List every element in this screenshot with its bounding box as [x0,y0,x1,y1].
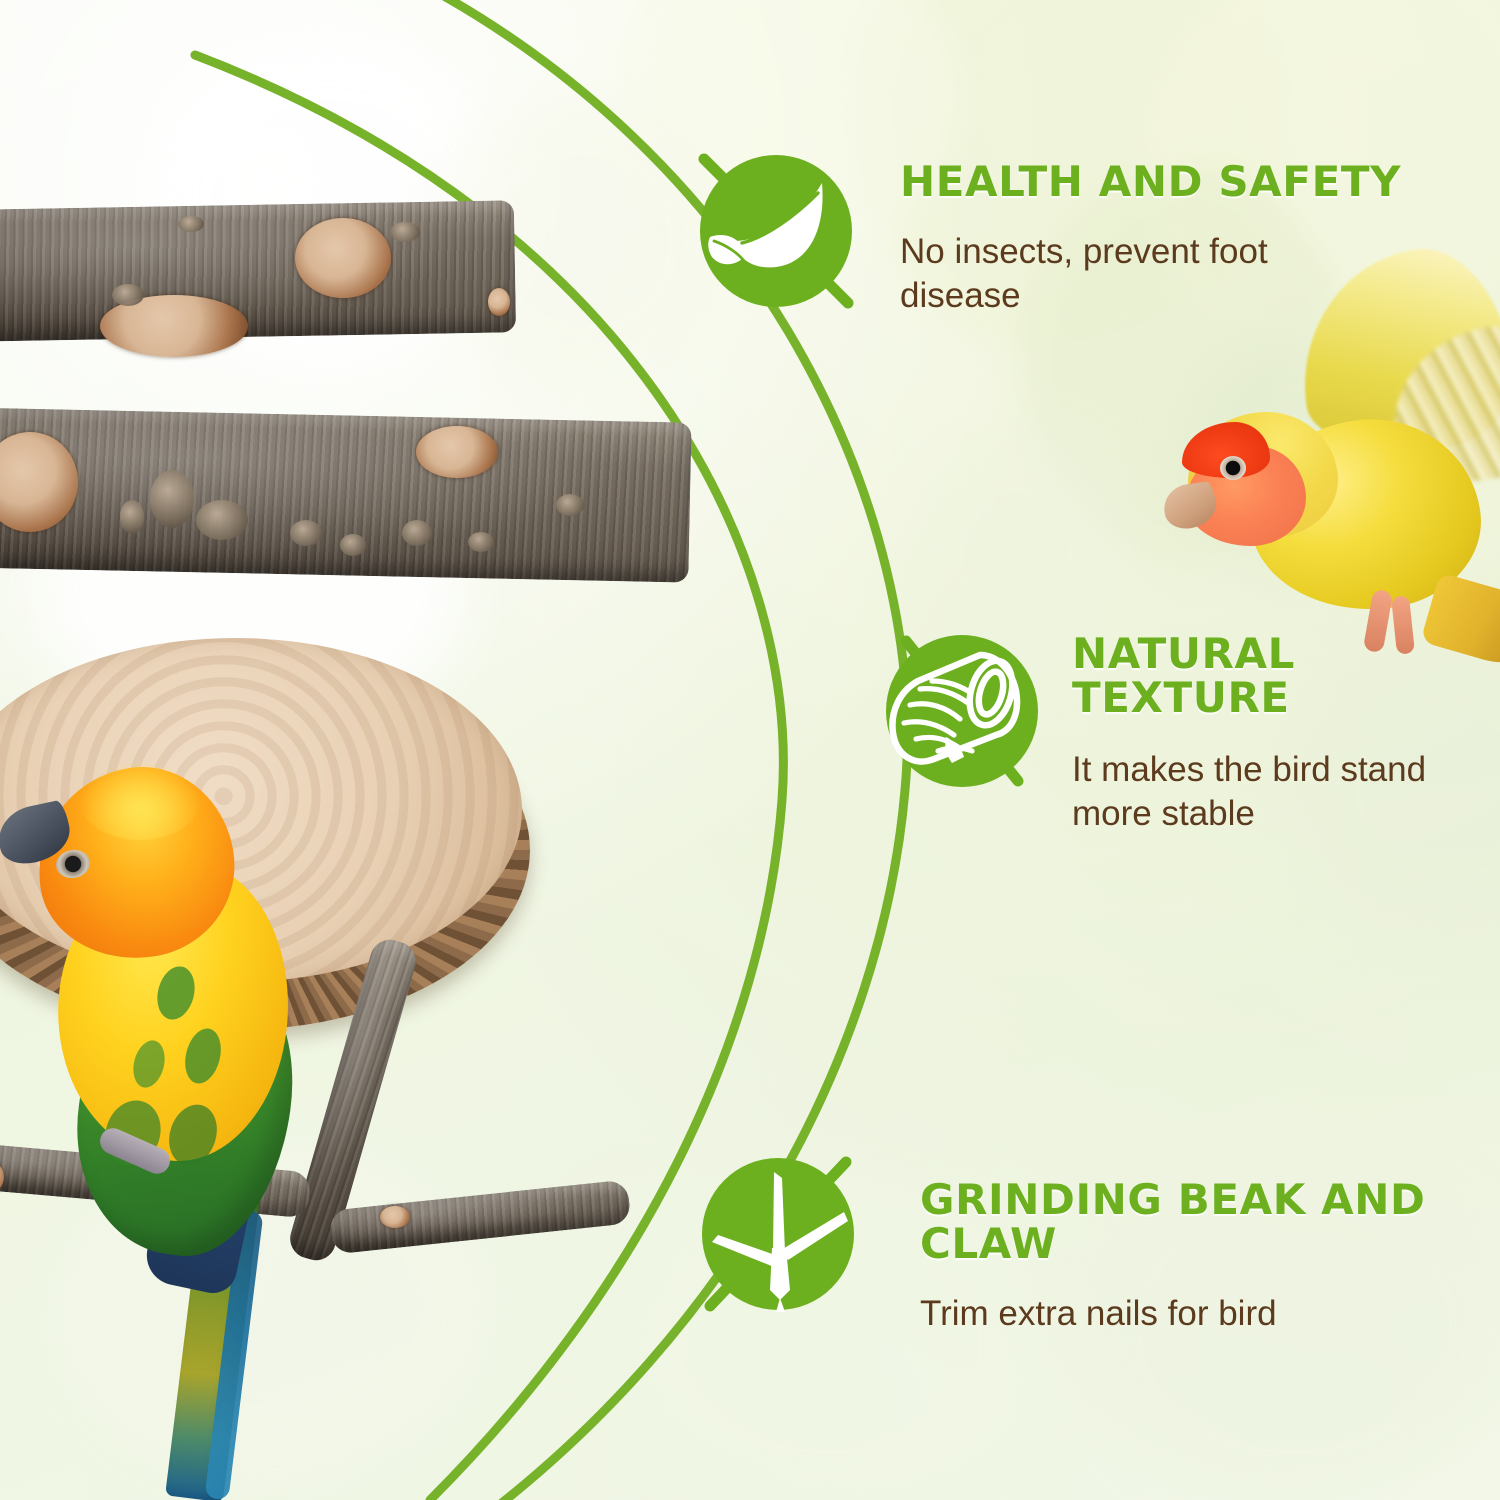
feature-title: HEALTH AND SAFETY [900,160,1460,204]
product-photo-collage [0,0,700,1500]
feature-description: It makes the bird stand more stable [1072,748,1492,836]
feature-description: No insects, prevent foot disease [900,230,1350,318]
feature-title: NATURAL TEXTURE [1072,632,1500,719]
feature-title: GRINDING BEAK AND CLAW [920,1178,1480,1265]
feature-description: Trim extra nails for bird [920,1292,1390,1336]
bird-claw-icon [692,1148,864,1320]
log-icon [876,625,1048,797]
infographic-canvas: HEALTH AND SAFETY No insects, prevent fo… [0,0,1500,1500]
leaf-icon [690,145,862,317]
bird-sun-conure [10,740,430,1500]
bird-lovebird-flying [1160,270,1500,690]
